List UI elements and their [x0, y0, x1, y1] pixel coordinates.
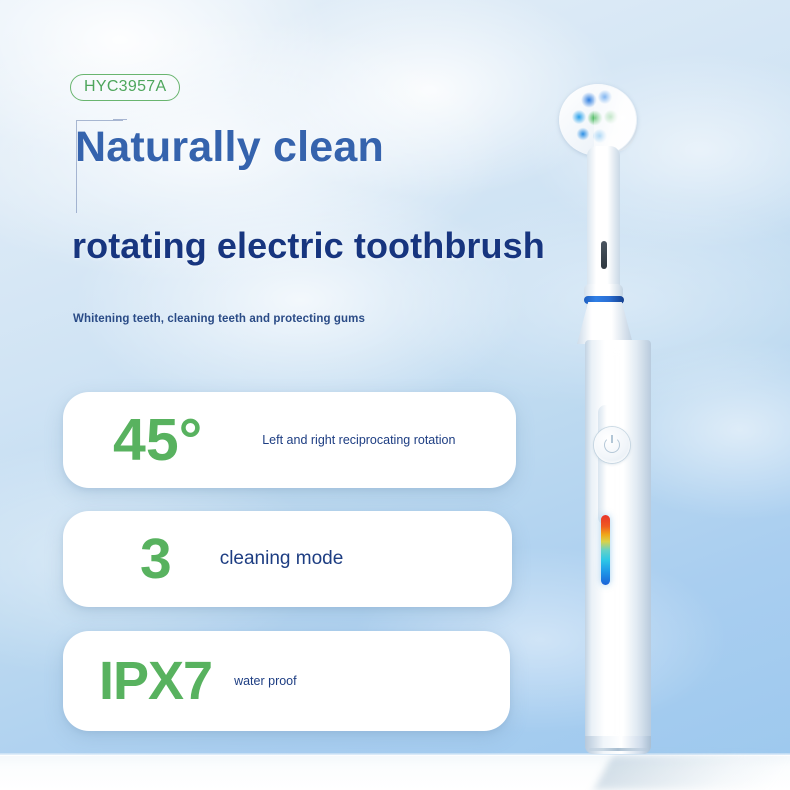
feature-value: 3: [140, 531, 172, 588]
feature-label: Left and right reciprocating rotation: [262, 433, 455, 448]
feature-value: IPX7: [99, 654, 212, 708]
handle-base: [585, 736, 651, 754]
handle-base-seam: [589, 748, 647, 751]
feature-label: water proof: [234, 674, 297, 689]
feature-card-waterproof: IPX7 water proof: [63, 631, 510, 731]
model-badge: HYC3957A: [70, 74, 180, 101]
led-mode-indicator: [601, 515, 610, 585]
feature-card-cleaning-mode: 3 cleaning mode: [63, 511, 512, 607]
brush-neck: [587, 146, 620, 291]
feature-card-rotation-angle: 45° Left and right reciprocating rotatio…: [63, 392, 516, 488]
headline-primary: Naturally clean: [75, 123, 384, 172]
electric-toothbrush: [500, 60, 730, 770]
power-icon: [604, 437, 620, 453]
product-banner: HYC3957A Naturally clean rotating electr…: [0, 0, 790, 790]
brush-neck-slot: [601, 241, 607, 269]
feature-value: 45°: [113, 411, 202, 470]
feature-label: cleaning mode: [220, 548, 344, 571]
headline-secondary: rotating electric toothbrush: [72, 225, 545, 267]
subtitle: Whitening teeth, cleaning teeth and prot…: [73, 313, 365, 325]
power-button[interactable]: [594, 427, 630, 463]
